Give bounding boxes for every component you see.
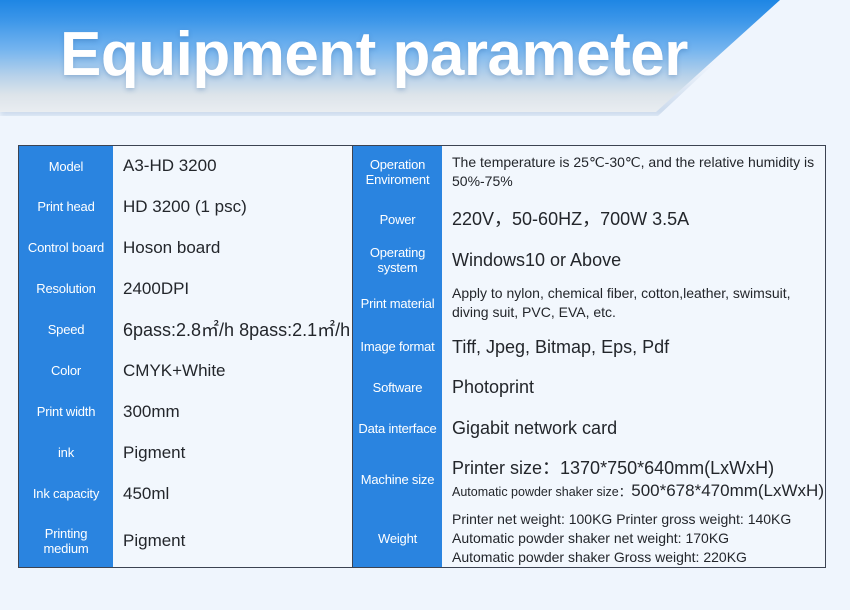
row-label-ink-capacity: Ink capacity	[19, 473, 113, 514]
row-label-print-head: Print head	[19, 186, 113, 227]
value-text-line-1: Printer size：1370*750*640mm(LxWxH)	[452, 456, 825, 480]
value-text-line-2: diving suit, PVC, EVA, etc.	[452, 303, 825, 322]
spec-column-left: Model A3-HD 3200 Print head HD 3200 (1 p…	[19, 146, 353, 567]
value-text: Tiff, Jpeg, Bitmap, Eps, Pdf	[452, 335, 825, 359]
row-label-resolution: Resolution	[19, 268, 113, 309]
row-label-image-format: Image format	[353, 326, 442, 367]
value-text: Pigment	[123, 530, 352, 552]
label-line-1: Operating	[370, 245, 425, 260]
table-row: Resolution 2400DPI	[19, 268, 352, 309]
value-text: Pigment	[123, 442, 352, 464]
row-label-operating-system: Operating system	[353, 240, 442, 281]
row-value-color: CMYK+White	[113, 350, 352, 391]
label-line-1: Operation	[370, 157, 425, 172]
row-value-print-material: Apply to nylon, chemical fiber, cotton,l…	[442, 280, 825, 326]
row-value-ink: Pigment	[113, 432, 352, 473]
value-text: HD 3200 (1 psc)	[123, 196, 352, 218]
value-text: 450ml	[123, 483, 352, 505]
row-value-weight: Printer net weight: 100KG Printer gross …	[442, 510, 825, 567]
table-row: Color CMYK+White	[19, 350, 352, 391]
row-value-speed: 6pass:2.8㎡/h 8pass:2.1㎡/h	[113, 309, 352, 350]
row-value-image-format: Tiff, Jpeg, Bitmap, Eps, Pdf	[442, 326, 825, 367]
table-row: Model A3-HD 3200	[19, 146, 352, 186]
value-text-line-1: Apply to nylon, chemical fiber, cotton,l…	[452, 284, 825, 303]
value-text-line-2: Automatic powder shaker size：500*678*470…	[452, 480, 825, 503]
table-row: Power 220V，50-60HZ，700W 3.5A	[353, 199, 825, 240]
row-label-power: Power	[353, 199, 442, 240]
value-text-line-2: Automatic powder shaker net weight: 170K…	[452, 529, 825, 548]
row-label-machine-size: Machine size	[353, 449, 442, 511]
value-text: Gigabit network card	[452, 416, 825, 440]
table-row: Data interface Gigabit network card	[353, 408, 825, 449]
row-label-printing-medium: Printing medium	[19, 514, 113, 567]
label-line-2: system	[378, 260, 418, 275]
table-row: Speed 6pass:2.8㎡/h 8pass:2.1㎡/h	[19, 309, 352, 350]
row-value-ink-capacity: 450ml	[113, 473, 352, 514]
label-line-2: Enviroment	[366, 172, 430, 187]
value-text: 6pass:2.8㎡/h 8pass:2.1㎡/h	[123, 318, 352, 342]
value-text: A3-HD 3200	[123, 155, 352, 177]
row-label-print-material: Print material	[353, 280, 442, 326]
spec-column-right: Operation Enviroment The temperature is …	[353, 146, 825, 567]
value-text: CMYK+White	[123, 360, 352, 382]
table-row: Machine size Printer size：1370*750*640mm…	[353, 449, 825, 511]
row-value-printing-medium: Pigment	[113, 514, 352, 567]
equipment-parameter-table: Model A3-HD 3200 Print head HD 3200 (1 p…	[18, 145, 826, 568]
value-text-line-1: Printer net weight: 100KG Printer gross …	[452, 510, 825, 529]
row-label-data-interface: Data interface	[353, 408, 442, 449]
row-value-power: 220V，50-60HZ，700W 3.5A	[442, 199, 825, 240]
table-row: Operation Enviroment The temperature is …	[353, 146, 825, 199]
table-row: Weight Printer net weight: 100KG Printer…	[353, 510, 825, 567]
value-text-line-2-main: 500*678*470mm(LxWxH)	[631, 481, 824, 500]
row-label-model: Model	[19, 146, 113, 186]
header-banner: Equipment parameter	[0, 0, 850, 128]
row-value-resolution: 2400DPI	[113, 268, 352, 309]
table-row: Ink capacity 450ml	[19, 473, 352, 514]
value-text: Windows10 or Above	[452, 248, 825, 272]
value-text: 220V，50-60HZ，700W 3.5A	[452, 207, 825, 231]
table-row: Printing medium Pigment	[19, 514, 352, 567]
row-label-ink: ink	[19, 432, 113, 473]
value-text: 2400DPI	[123, 278, 352, 300]
table-row: Print width 300mm	[19, 391, 352, 432]
row-label-software: Software	[353, 367, 442, 408]
row-label-weight: Weight	[353, 510, 442, 567]
value-text: Hoson board	[123, 237, 352, 259]
value-text-line-2-prefix: Automatic powder shaker size：	[452, 485, 631, 499]
table-row: Print material Apply to nylon, chemical …	[353, 280, 825, 326]
row-label-print-width: Print width	[19, 391, 113, 432]
row-value-control-board: Hoson board	[113, 227, 352, 268]
row-value-data-interface: Gigabit network card	[442, 408, 825, 449]
row-label-control-board: Control board	[19, 227, 113, 268]
row-label-color: Color	[19, 350, 113, 391]
row-value-model: A3-HD 3200	[113, 146, 352, 186]
table-row: ink Pigment	[19, 432, 352, 473]
row-value-operating-system: Windows10 or Above	[442, 240, 825, 281]
row-value-machine-size: Printer size：1370*750*640mm(LxWxH) Autom…	[442, 449, 825, 511]
value-text: The temperature is 25℃-30℃, and the rela…	[452, 153, 825, 191]
table-row: Print head HD 3200 (1 psc)	[19, 186, 352, 227]
table-row: Control board Hoson board	[19, 227, 352, 268]
row-value-print-head: HD 3200 (1 psc)	[113, 186, 352, 227]
row-label-speed: Speed	[19, 309, 113, 350]
row-value-operation-environment: The temperature is 25℃-30℃, and the rela…	[442, 146, 825, 199]
row-value-print-width: 300mm	[113, 391, 352, 432]
page-title: Equipment parameter	[60, 16, 688, 94]
row-value-software: Photoprint	[442, 367, 825, 408]
row-label-operation-environment: Operation Enviroment	[353, 146, 442, 199]
value-text-line-3: Automatic powder shaker Gross weight: 22…	[452, 548, 825, 567]
value-text: Photoprint	[452, 375, 825, 399]
table-row: Image format Tiff, Jpeg, Bitmap, Eps, Pd…	[353, 326, 825, 367]
value-text: 300mm	[123, 401, 352, 423]
table-row: Operating system Windows10 or Above	[353, 240, 825, 281]
table-row: Software Photoprint	[353, 367, 825, 408]
